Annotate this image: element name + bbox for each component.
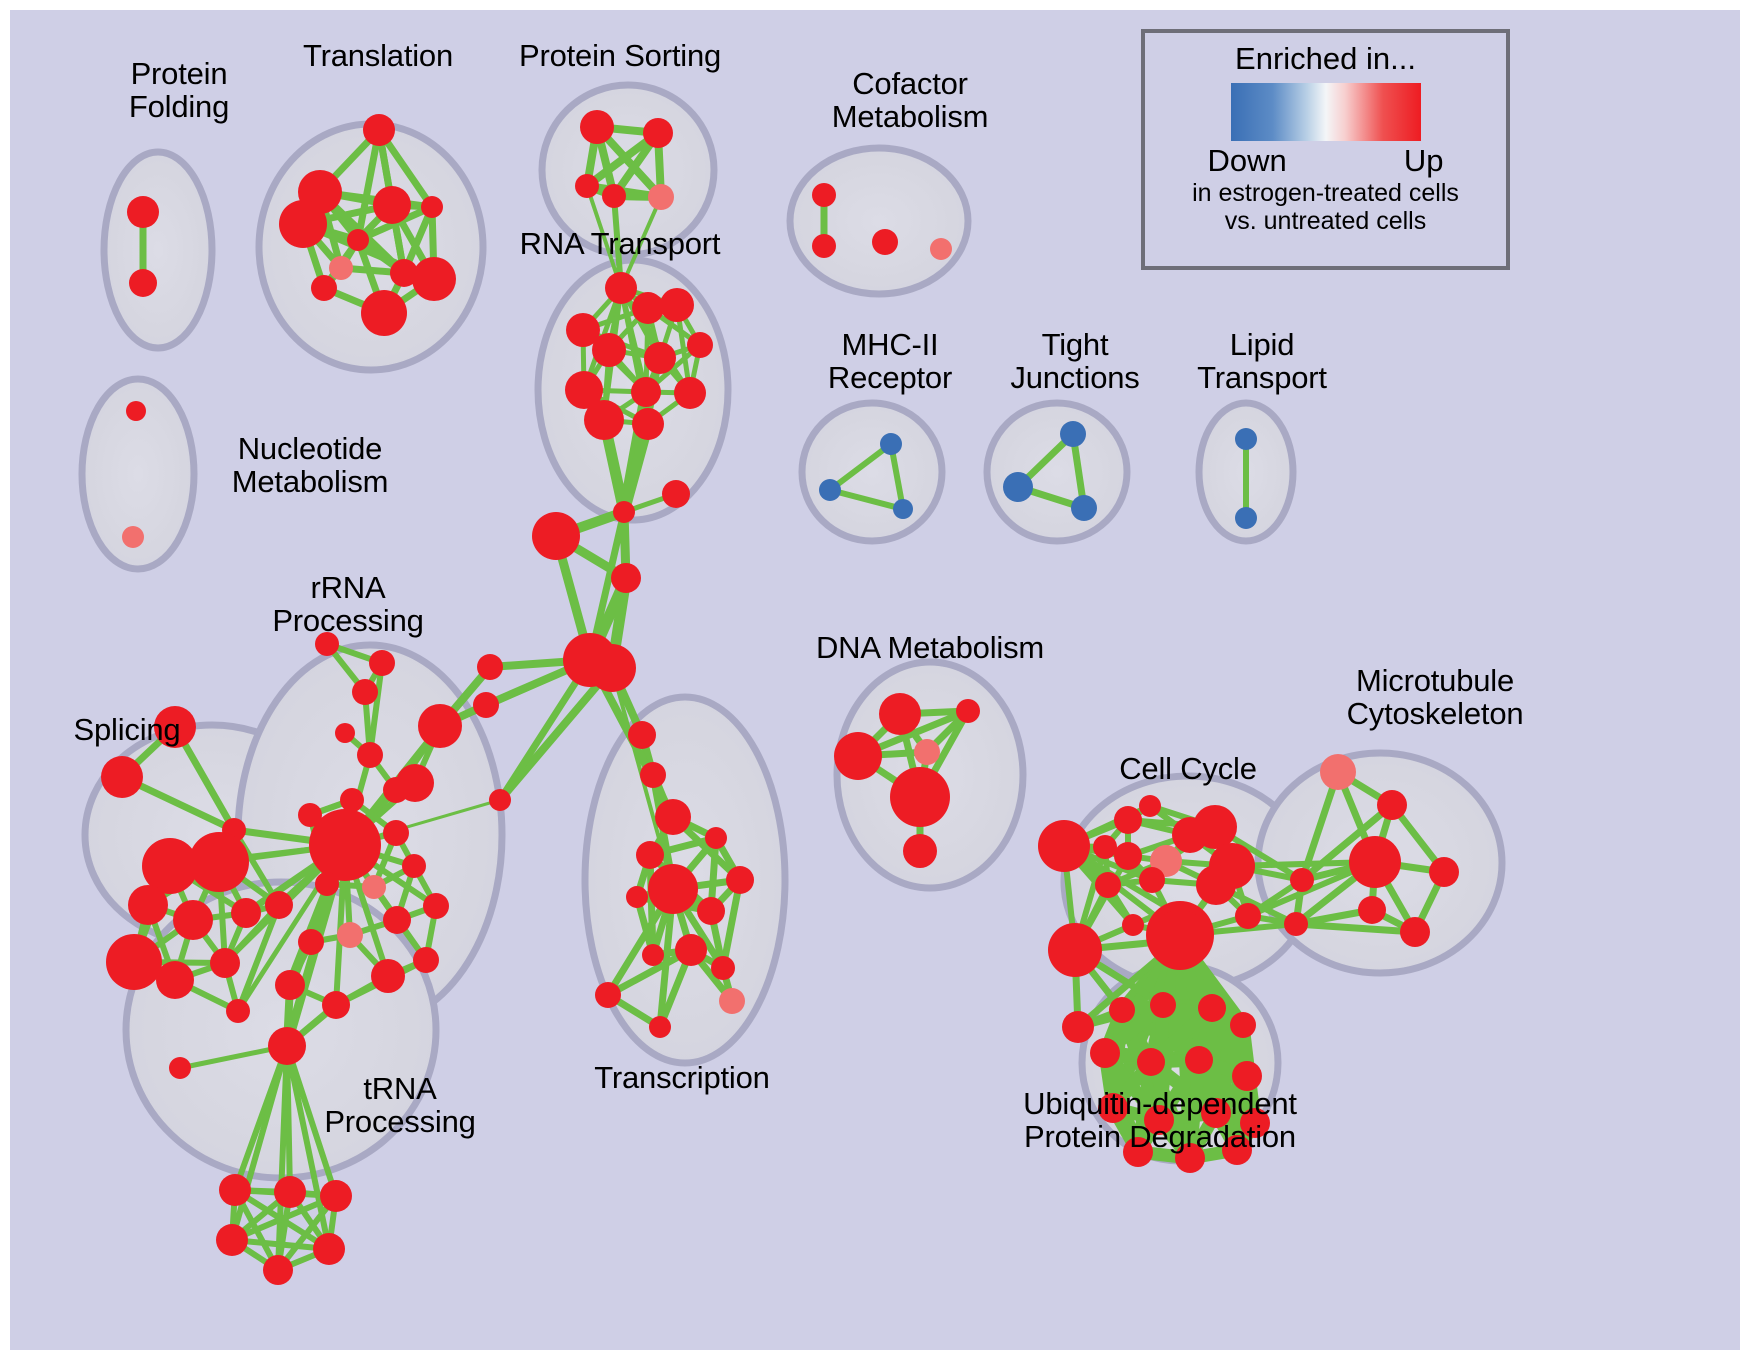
legend-panel: Enriched in... Down Up in estrogen-treat… [1141, 29, 1510, 270]
node [1114, 842, 1142, 870]
cluster-label-splicing: Splicing [52, 714, 202, 747]
node [383, 777, 409, 803]
node [1193, 805, 1237, 849]
node [126, 401, 146, 421]
node [660, 288, 694, 322]
node [1290, 868, 1314, 892]
node [643, 118, 673, 148]
node [674, 377, 706, 409]
cluster-label-translation: Translation [268, 40, 488, 73]
node [532, 512, 580, 560]
node [210, 948, 240, 978]
node [421, 196, 443, 218]
node [1429, 857, 1459, 887]
node [1071, 495, 1097, 521]
cluster-label-microtubule-cytoskeleton: Microtubule Cytoskeleton [1300, 665, 1570, 731]
node [329, 256, 353, 280]
node [231, 898, 261, 928]
node [1048, 923, 1102, 977]
node [156, 961, 194, 999]
node [122, 526, 144, 548]
node [1139, 867, 1165, 893]
node [711, 956, 735, 980]
node [173, 900, 213, 940]
node [687, 332, 713, 358]
node [383, 906, 411, 934]
node [402, 854, 426, 878]
node [705, 827, 727, 849]
node [880, 433, 902, 455]
node [1095, 872, 1121, 898]
node [1400, 917, 1430, 947]
node [1185, 1046, 1213, 1074]
node [605, 272, 637, 304]
node [1196, 865, 1236, 905]
node [413, 947, 439, 973]
cluster-label-rna-transport: RNA Transport [500, 228, 740, 261]
node [890, 767, 950, 827]
cluster-label-tight-junctions: Tight Junctions [985, 329, 1165, 395]
node [274, 1176, 306, 1208]
node [675, 934, 707, 966]
node [347, 229, 369, 251]
node [640, 762, 666, 788]
node [335, 723, 355, 743]
node [313, 1233, 345, 1265]
cluster-label-trna-processing: tRNA Processing [300, 1073, 500, 1139]
node [489, 789, 511, 811]
node [812, 183, 836, 207]
node [369, 650, 395, 676]
hull-protein-folding [104, 152, 212, 348]
node [219, 1174, 251, 1206]
node [1060, 421, 1086, 447]
node [412, 257, 456, 301]
node [268, 1027, 306, 1065]
node [602, 184, 626, 208]
legend-subtitle-line2: vs. untreated cells [1225, 207, 1427, 235]
node [903, 834, 937, 868]
node [1122, 914, 1144, 936]
node [611, 563, 641, 593]
cluster-label-ubiquitin-protein-degradation: Ubiquitin-dependent Protein Degradation [985, 1088, 1335, 1154]
cluster-label-transcription: Transcription [567, 1062, 797, 1095]
legend-subtitle-line1: in estrogen-treated cells [1192, 179, 1459, 207]
cluster-label-cell-cycle: Cell Cycle [1098, 753, 1278, 786]
node [632, 292, 664, 324]
node [477, 654, 503, 680]
node [1358, 896, 1386, 924]
node [592, 333, 626, 367]
node [595, 982, 621, 1008]
node [361, 290, 407, 336]
legend-up-label: Up [1404, 143, 1444, 179]
node [315, 872, 339, 896]
node [352, 679, 378, 705]
node [914, 739, 940, 765]
node [1062, 1011, 1094, 1043]
node [418, 704, 462, 748]
node [298, 929, 324, 955]
cluster-label-rrna-processing: rRNA Processing [248, 572, 448, 638]
node [263, 1255, 293, 1285]
node [265, 891, 293, 919]
node [371, 959, 405, 993]
node [169, 1057, 191, 1079]
node [1038, 820, 1090, 872]
node [628, 721, 656, 749]
node [631, 377, 661, 407]
node [834, 732, 882, 780]
node [275, 970, 305, 1000]
node [588, 644, 636, 692]
node [580, 110, 614, 144]
node [655, 799, 691, 835]
node [1093, 835, 1117, 859]
node [106, 934, 162, 990]
node [189, 832, 249, 892]
hull-tight-junctions [987, 403, 1127, 541]
node [648, 864, 698, 914]
node [1150, 992, 1176, 1018]
legend-endpoints: Down Up [1208, 143, 1444, 179]
node [1377, 790, 1407, 820]
legend-down-label: Down [1208, 143, 1287, 179]
cluster-label-lipid-transport: Lipid Transport [1172, 329, 1352, 395]
node [322, 991, 350, 1019]
cluster-label-mhc-ii-receptor: MHC-II Receptor [800, 329, 980, 395]
node [719, 988, 745, 1014]
node [1114, 806, 1142, 834]
hull-cofactor-metabolism [790, 148, 968, 294]
node [644, 342, 676, 374]
enrichment-map-figure: Protein Folding Translation Protein Sort… [0, 0, 1750, 1360]
node [1235, 428, 1257, 450]
node [320, 1180, 352, 1212]
node [309, 809, 381, 881]
legend-title: Enriched in... [1235, 41, 1416, 77]
node [373, 186, 411, 224]
node [357, 742, 383, 768]
cluster-label-protein-sorting: Protein Sorting [495, 40, 745, 73]
node [337, 922, 363, 948]
node [1090, 1038, 1120, 1068]
node [473, 692, 499, 718]
node [872, 229, 898, 255]
node [632, 408, 664, 440]
node [226, 999, 250, 1023]
node [1230, 1012, 1256, 1038]
node [363, 114, 395, 146]
node [575, 174, 599, 198]
node [1137, 1048, 1165, 1076]
node [726, 866, 754, 894]
node [636, 841, 664, 869]
node [626, 886, 648, 908]
node [819, 479, 841, 501]
node [613, 501, 635, 523]
node [1320, 754, 1356, 790]
node [642, 944, 664, 966]
node [216, 1224, 248, 1256]
hull-mhc-ii-receptor [802, 403, 942, 541]
node [1284, 912, 1308, 936]
node [362, 875, 386, 899]
node [423, 893, 449, 919]
cluster-label-protein-folding: Protein Folding [84, 58, 274, 124]
node [1235, 507, 1257, 529]
node [129, 269, 157, 297]
node [127, 196, 159, 228]
node [1109, 997, 1135, 1023]
node [662, 480, 690, 508]
node [311, 275, 337, 301]
node [584, 400, 624, 440]
cluster-label-cofactor-metabolism: Cofactor Metabolism [795, 68, 1025, 134]
node [879, 693, 921, 735]
node [1235, 903, 1261, 929]
node [1139, 795, 1161, 817]
node [279, 200, 327, 248]
node [1150, 910, 1210, 970]
node [697, 897, 725, 925]
node [1003, 472, 1033, 502]
node [893, 499, 913, 519]
node [930, 238, 952, 260]
node [101, 756, 143, 798]
node [1349, 836, 1401, 888]
node [812, 234, 836, 258]
legend-color-gradient-bar [1231, 83, 1421, 141]
node [128, 885, 168, 925]
node [383, 820, 409, 846]
node [649, 1016, 671, 1038]
cluster-label-dna-metabolism: DNA Metabolism [800, 632, 1060, 665]
node [648, 184, 674, 210]
cluster-label-nucleotide-metabolism: Nucleotide Metabolism [195, 433, 425, 499]
node [956, 699, 980, 723]
node [1198, 994, 1226, 1022]
node [340, 788, 364, 812]
